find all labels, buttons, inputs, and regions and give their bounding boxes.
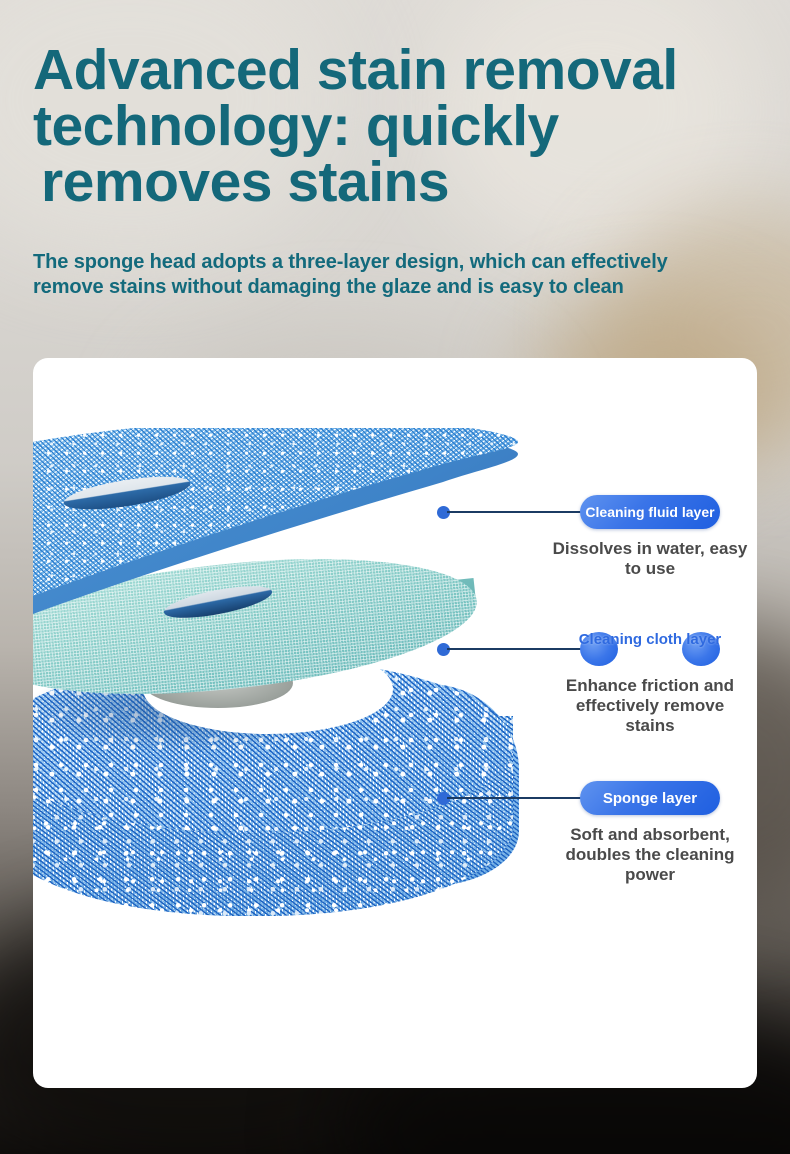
product-card: Cleaning fluid layer Dissolves in water,… <box>33 358 757 1088</box>
leader-line <box>447 511 587 513</box>
title-line-1: Advanced stain removal <box>33 42 753 98</box>
title-line-2: technology: quickly <box>33 98 753 154</box>
desc-cleaning-fluid-layer: Dissolves in water, easy to use <box>550 539 750 579</box>
badge-cleaning-fluid-layer[interactable]: Cleaning fluid layer <box>580 495 720 529</box>
desc-cleaning-cloth-layer: Enhance friction and effectively remove … <box>550 676 750 736</box>
desc-sponge-layer: Soft and absorbent, doubles the cleaning… <box>550 825 750 885</box>
badge-sponge-layer[interactable]: Sponge layer <box>580 781 720 815</box>
leader-line <box>447 797 587 799</box>
badge-cleaning-cloth-layer[interactable]: Cleaning cloth layer <box>580 632 720 666</box>
title-line-3: removes stains <box>33 154 753 210</box>
page-title: Advanced stain removal technology: quick… <box>33 42 753 210</box>
page-subtitle: The sponge head adopts a three-layer des… <box>33 250 733 300</box>
leader-line <box>447 648 587 650</box>
badge-cleaning-cloth-layer-label: Cleaning cloth layer <box>576 631 724 648</box>
